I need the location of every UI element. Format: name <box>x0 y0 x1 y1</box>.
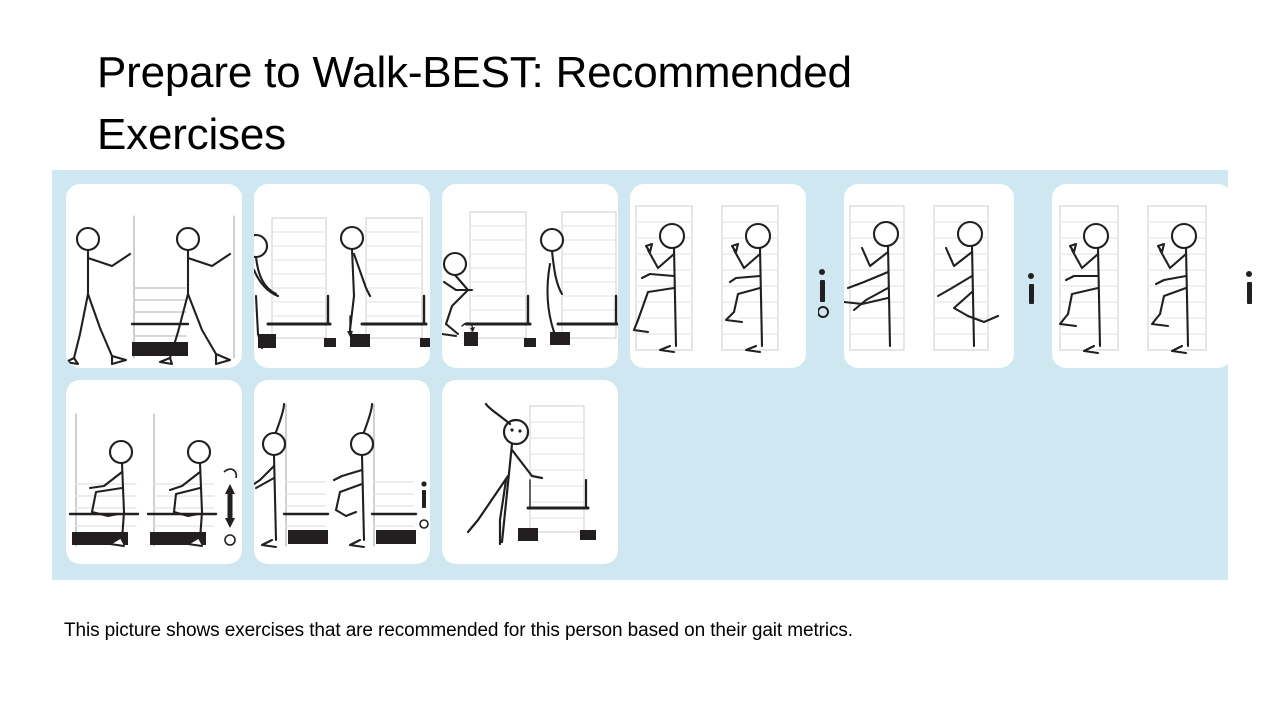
exercise-image-banner <box>52 170 1228 580</box>
stick-figures-step-up-onto-block-icon <box>254 184 430 368</box>
stick-figures-seated-knee-extension-icon <box>66 380 242 564</box>
stick-figures-standing-leg-swing-icon <box>844 184 1014 368</box>
stick-figures-high-knee-march-icon <box>630 184 806 368</box>
exercise-card[interactable] <box>254 380 430 564</box>
stick-figures-sit-to-stand-icon <box>442 184 618 368</box>
exercise-card[interactable] <box>844 184 1014 368</box>
exercise-card-row <box>66 380 1214 564</box>
stick-figures-walking-holding-rail-icon <box>66 184 242 368</box>
stick-figures-knee-raise-icon <box>1052 184 1232 368</box>
exercise-card[interactable] <box>442 380 618 564</box>
exercise-card-row <box>66 184 1214 368</box>
slide-caption: This picture shows exercises that are re… <box>64 620 853 642</box>
exercise-card[interactable] <box>254 184 430 368</box>
clipped-illustration-sliver <box>818 184 832 368</box>
clipped-figure-icon <box>818 184 832 368</box>
clipped-illustration-sliver <box>1026 184 1040 368</box>
exercise-card[interactable] <box>66 184 242 368</box>
vertical-double-arrow-icon <box>224 469 236 545</box>
clipped-illustration-sliver <box>1244 184 1258 368</box>
exercise-card[interactable] <box>1052 184 1232 368</box>
exercise-card[interactable] <box>442 184 618 368</box>
exercise-card[interactable] <box>66 380 242 564</box>
exercise-card[interactable] <box>630 184 806 368</box>
clipped-figure-icon <box>1026 184 1040 368</box>
stick-figure-overhead-reach-beside-rail-icon <box>442 380 618 564</box>
stick-figures-overhead-reach-knee-lift-icon <box>254 380 430 564</box>
page-title: Prepare to Walk-BEST: Recommended Exerci… <box>97 42 1047 167</box>
clipped-figure-icon <box>1244 184 1258 368</box>
clipped-figure-icon <box>420 481 428 528</box>
